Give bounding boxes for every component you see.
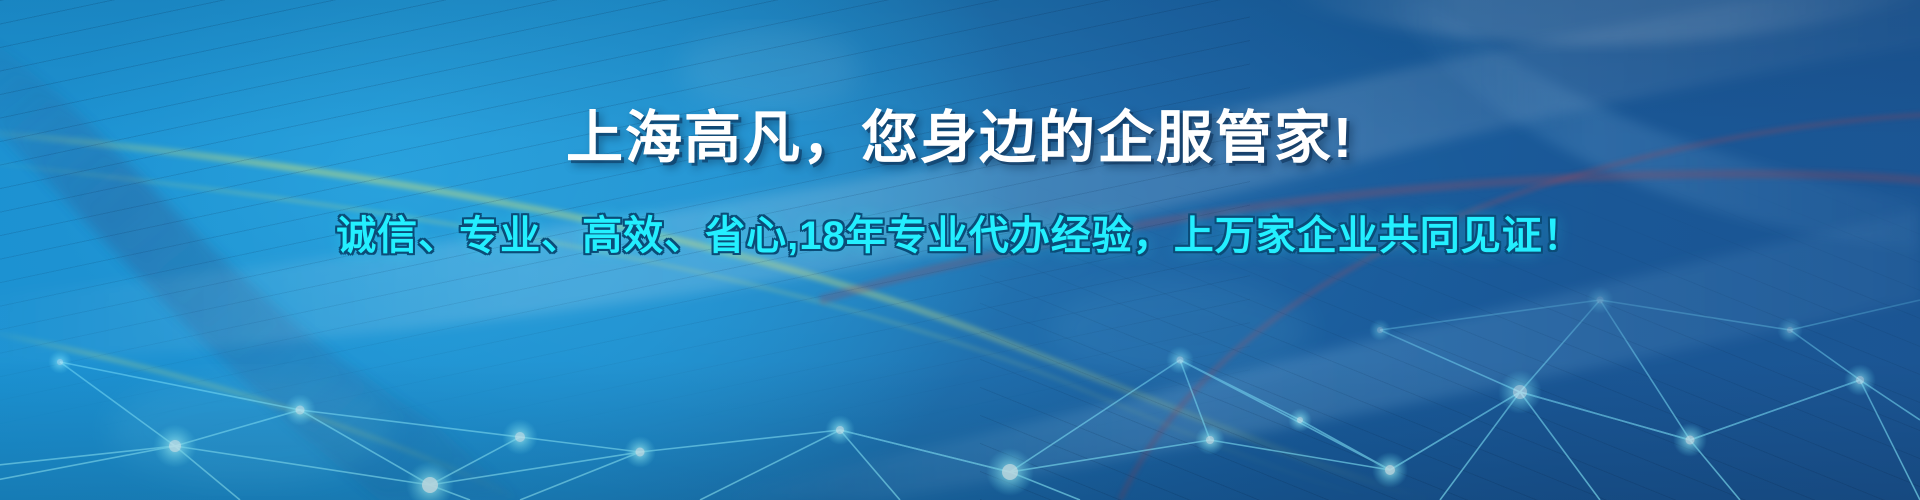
banner-subheadline: 诚信、专业、高效、省心,18年专业代办经验，上万家企业共同见证！ (0, 214, 1920, 258)
promo-banner: 上海高凡，您身边的企服管家! 诚信、专业、高效、省心,18年专业代办经验，上万家… (0, 0, 1920, 500)
banner-copy: 上海高凡，您身边的企服管家! 诚信、专业、高效、省心,18年专业代办经验，上万家… (0, 108, 1920, 258)
banner-headline: 上海高凡，您身边的企服管家! (0, 108, 1920, 168)
